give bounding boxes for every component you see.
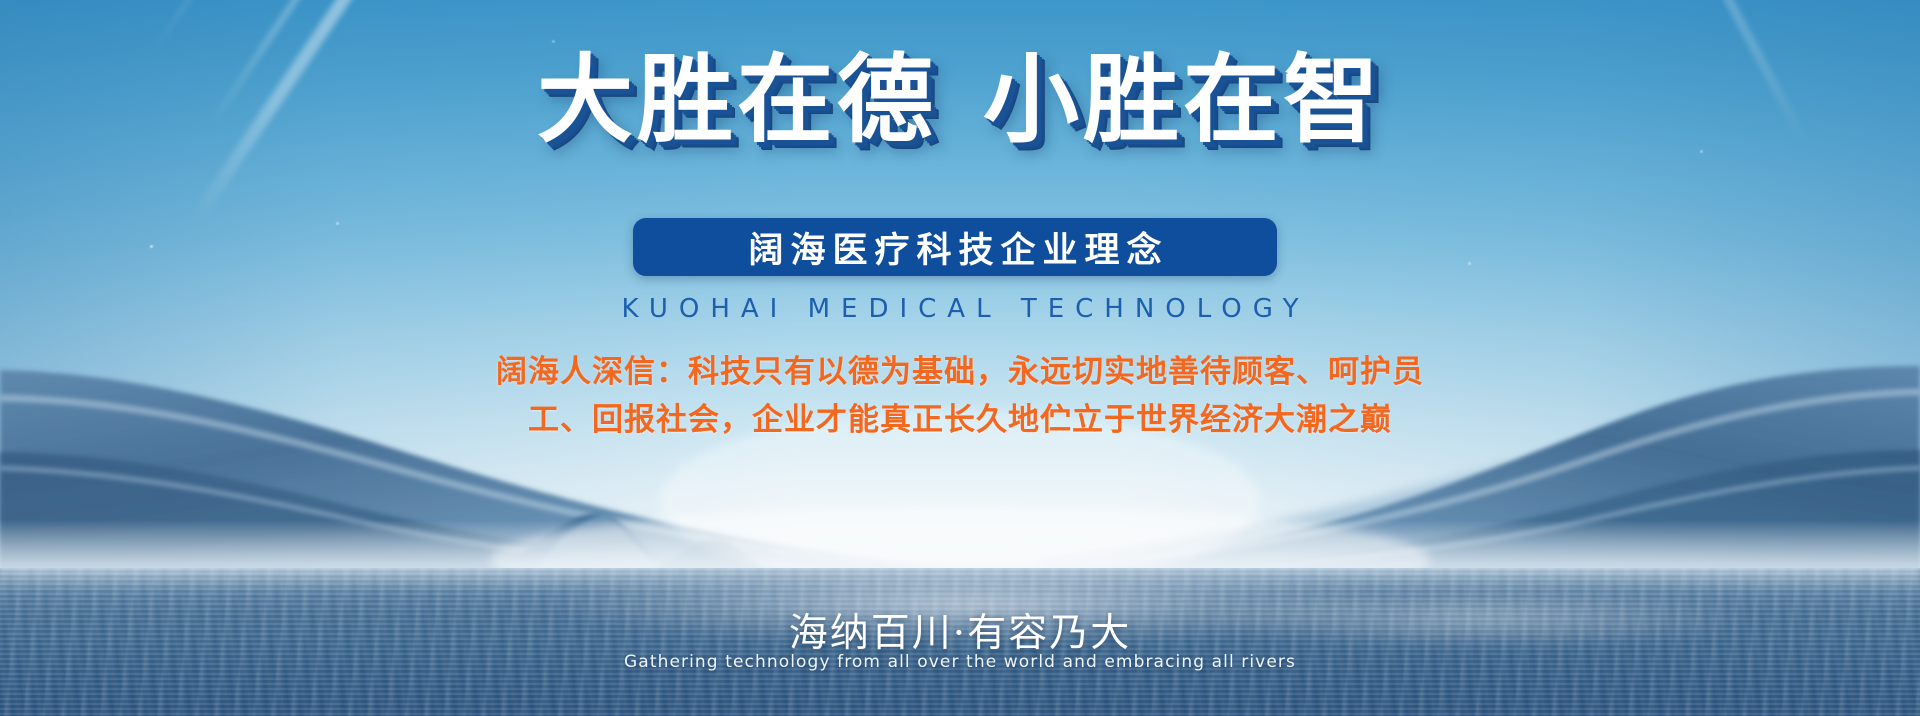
- hero-banner: 大胜在德小胜在智 阔海医疗科技企业理念 KUOHAI MEDICAL TECHN…: [0, 0, 1920, 716]
- badge-label: 阔海医疗科技企业理念: [741, 222, 1168, 273]
- company-philosophy-badge: 阔海医疗科技企业理念: [633, 218, 1277, 276]
- banner-content: 大胜在德小胜在智 阔海医疗科技企业理念 KUOHAI MEDICAL TECHN…: [0, 0, 1920, 716]
- tagline-english: Gathering technology from all over the w…: [0, 652, 1920, 672]
- headline-left: 大胜在德: [537, 44, 937, 156]
- statement-line-2: 工、回报社会，企业才能真正长久地伫立于世界经济大潮之巅: [0, 396, 1920, 444]
- philosophy-statement: 阔海人深信：科技只有以德为基础，永远切实地善待顾客、呵护员 工、回报社会，企业才…: [0, 348, 1920, 444]
- headline: 大胜在德小胜在智: [0, 50, 1920, 151]
- statement-line-1: 阔海人深信：科技只有以德为基础，永远切实地善待顾客、呵护员: [0, 348, 1920, 396]
- english-subtitle: KUOHAI MEDICAL TECHNOLOGY: [0, 294, 1920, 324]
- tagline-chinese: 海纳百川·有容乃大: [0, 602, 1920, 658]
- headline-right: 小胜在智: [983, 44, 1383, 156]
